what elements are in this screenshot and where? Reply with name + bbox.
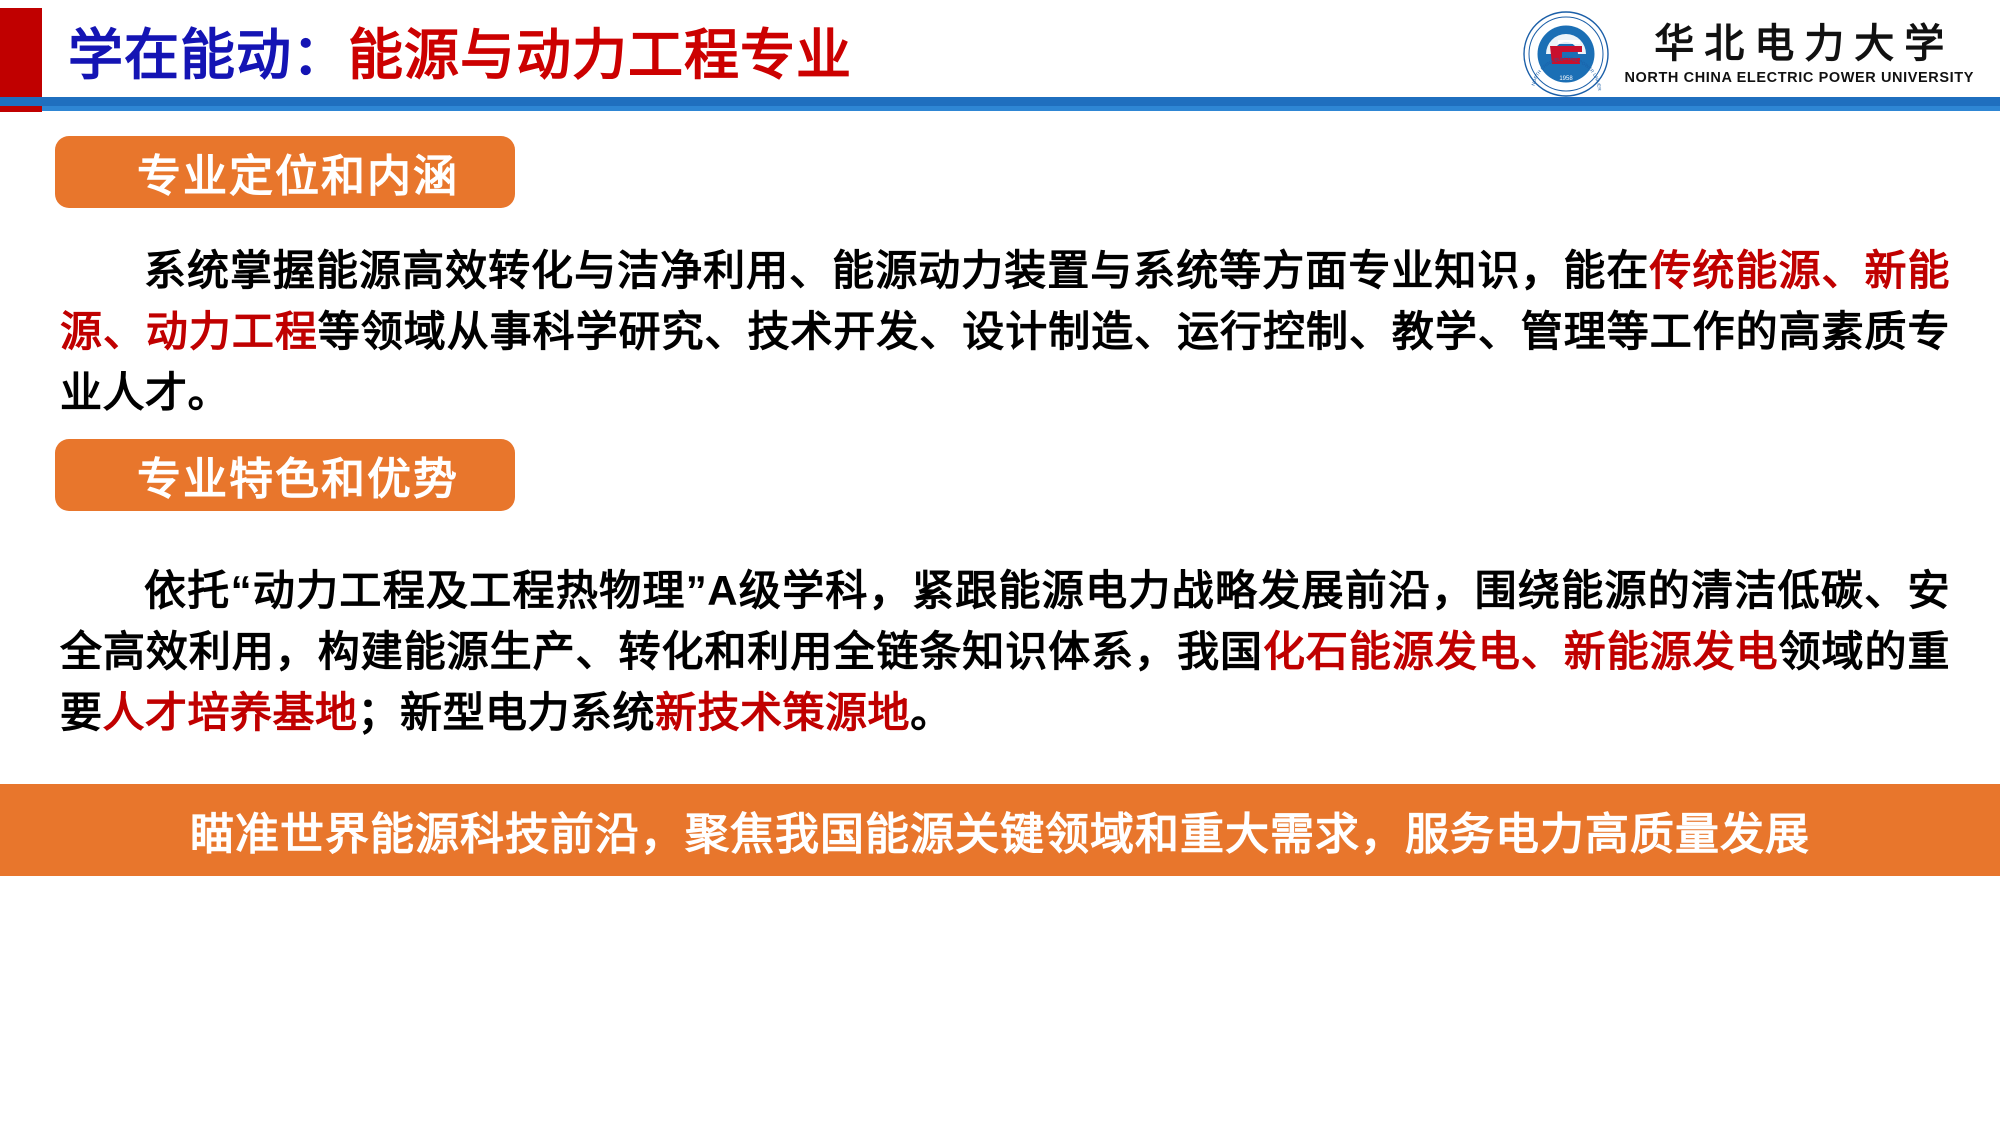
paragraph-run-highlight: 化石能源发电、新能源发电 — [1263, 628, 1779, 675]
paragraph-run: 系统掌握能源高效转化与洁净利用、能源动力装置与系统等方面专业知识，能在 — [144, 247, 1649, 294]
footer-banner: 瞄准世界能源科技前沿，聚焦我国能源关键领域和重大需求，服务电力高质量发展 — [0, 784, 2000, 876]
section-banner-positioning: 专业定位和内涵 — [55, 136, 515, 208]
paragraph-run: 等领域从事科学研究、技术开发、设计制造、运行控制、教学、管理等工作的高素质专业人… — [60, 308, 1950, 416]
page-title: 学在能动：能源与动力工程专业 — [68, 14, 852, 96]
slide-header: 学在能动：能源与动力工程专业 1958 NORTH CHINA ELECTRIC… — [0, 0, 2000, 112]
ncepu-emblem-icon: 1958 NORTH CHINA ELECTRIC POWER UNIVERSI… — [1522, 10, 1610, 98]
page-title-secondary: 能源与动力工程专业 — [348, 24, 852, 86]
section-paragraph-features: 依托“动力工程及工程热物理”A级学科，紧跟能源电力战略发展前沿，围绕能源的清洁低… — [60, 560, 1950, 743]
footer-slogan: 瞄准世界能源科技前沿，聚焦我国能源关键领域和重大需求，服务电力高质量发展 — [190, 798, 1810, 862]
section-paragraph-positioning: 系统掌握能源高效转化与洁净利用、能源动力装置与系统等方面专业知识，能在传统能源、… — [60, 240, 1950, 423]
paragraph-run: ；新型电力系统 — [358, 689, 656, 736]
footer-bottom-strip — [0, 876, 2000, 890]
university-name-block: 华北电力大学 NORTH CHINA ELECTRIC POWER UNIVER… — [1624, 20, 1974, 88]
paragraph-run-highlight: 新技术策源地 — [655, 689, 910, 736]
page-title-primary: 学在能动： — [68, 24, 348, 86]
paragraph-run: 。 — [910, 689, 953, 736]
university-name-en: NORTH CHINA ELECTRIC POWER UNIVERSITY — [1624, 68, 1974, 88]
header-divider — [0, 97, 2000, 106]
university-name-cn: 华北电力大学 — [1644, 20, 1954, 68]
svg-text:1958: 1958 — [1560, 76, 1574, 82]
university-logo: 1958 NORTH CHINA ELECTRIC POWER UNIVERSI… — [1522, 6, 1974, 102]
section-banner-features: 专业特色和优势 — [55, 439, 515, 511]
header-divider-secondary — [42, 106, 2000, 111]
paragraph-run-highlight: 人才培养基地 — [103, 689, 358, 736]
section-banner-label: 专业特色和优势 — [55, 443, 459, 507]
section-banner-label: 专业定位和内涵 — [55, 140, 459, 204]
